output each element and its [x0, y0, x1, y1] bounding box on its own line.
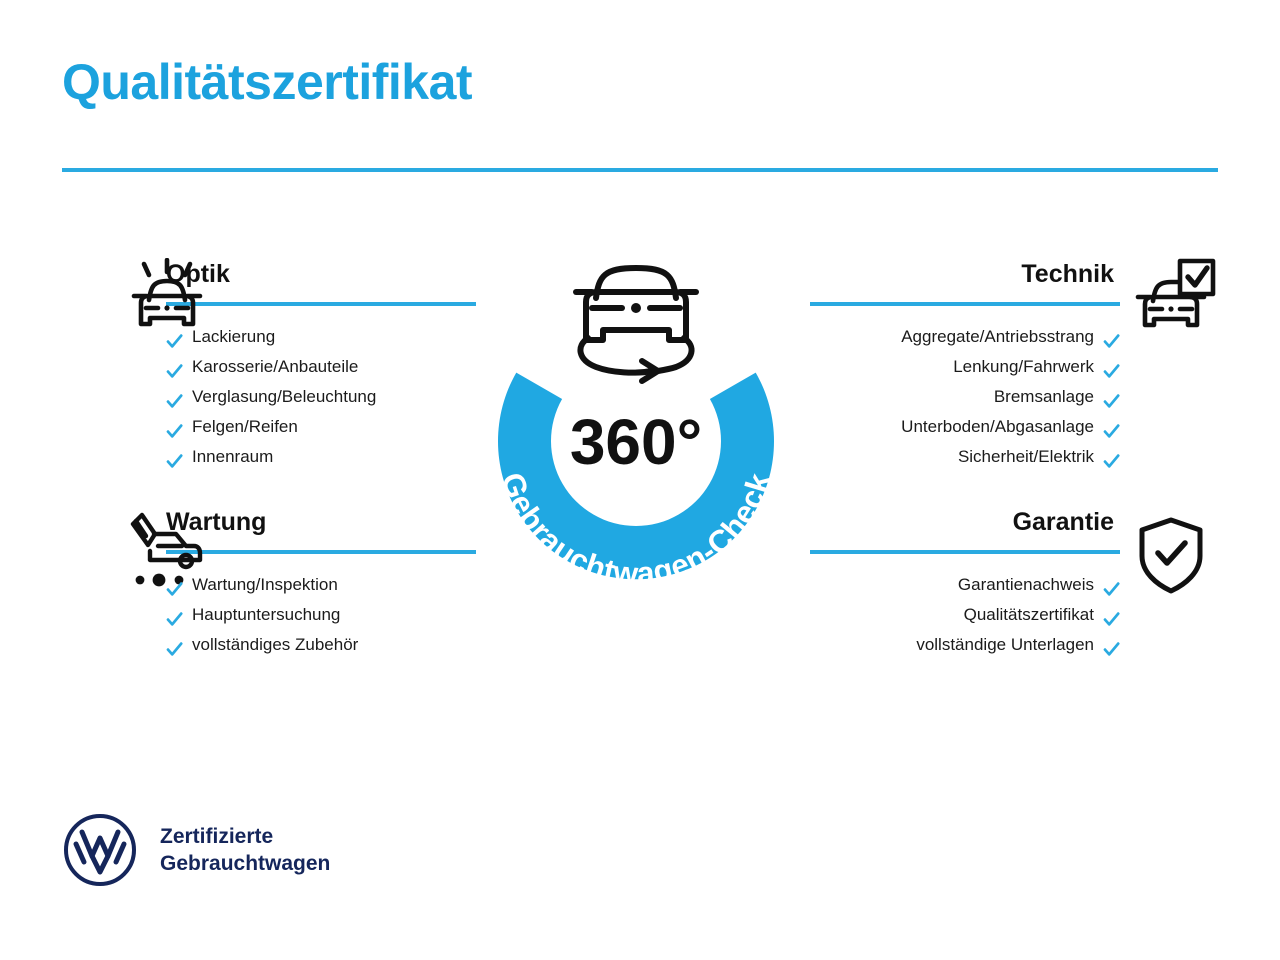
- car-checkbox-icon: [1132, 256, 1218, 342]
- list-item-label: Sicherheit/Elektrik: [958, 442, 1094, 472]
- footer-line-2: Gebrauchtwagen: [160, 850, 330, 877]
- list-item-label: Wartung/Inspektion: [192, 570, 338, 600]
- section-garantie: Garantie Garantienachweis Qualitätszerti…: [800, 510, 1218, 660]
- check-icon: [166, 330, 183, 347]
- section-divider-wartung: [166, 550, 476, 554]
- list-item: Verglasung/Beleuchtung: [62, 382, 476, 412]
- list-item: Hauptuntersuchung: [62, 600, 476, 630]
- check-icon: [166, 638, 183, 655]
- page-title: Qualitätszertifikat: [62, 56, 1218, 109]
- check-icon: [1103, 638, 1120, 655]
- list-item-label: Unterboden/Abgasanlage: [901, 412, 1094, 442]
- footer-line-1: Zertifizierte: [160, 823, 330, 850]
- footer-text: Zertifizierte Gebrauchtwagen: [160, 823, 330, 878]
- section-divider-optik: [166, 302, 476, 306]
- list-item: Bremsanlage: [800, 382, 1218, 412]
- check-icon: [1103, 330, 1120, 347]
- footer-brand: Zertifizierte Gebrauchtwagen: [62, 812, 330, 888]
- list-item-label: Felgen/Reifen: [192, 412, 298, 442]
- section-divider-garantie: [810, 550, 1120, 554]
- list-item: Qualitätszertifikat: [800, 600, 1218, 630]
- car-rotate-360-icon: [576, 268, 696, 381]
- list-item-label: Garantienachweis: [958, 570, 1094, 600]
- header-divider: [62, 168, 1218, 172]
- list-item-label: vollständiges Zubehör: [192, 630, 358, 660]
- check-icon: [1103, 360, 1120, 377]
- checklist-optik: Lackierung Karosserie/Anbauteile Verglas…: [62, 322, 476, 472]
- badge-center-label: 360°: [570, 406, 702, 478]
- list-item: vollständige Unterlagen: [800, 630, 1218, 660]
- check-icon: [166, 360, 183, 377]
- check-icon: [1103, 578, 1120, 595]
- list-item-label: vollständige Unterlagen: [916, 630, 1094, 660]
- check-icon: [1103, 420, 1120, 437]
- page-header: Qualitätszertifikat: [62, 56, 1218, 109]
- list-item: Sicherheit/Elektrik: [800, 442, 1218, 472]
- check-icon: [1103, 608, 1120, 625]
- section-technik: Technik Aggregate/Antriebsstrang Lenkung…: [800, 262, 1218, 472]
- vw-logo: [62, 812, 138, 888]
- quality-certificate-page: { "header": { "title": "Qualitätszertifi…: [0, 0, 1280, 960]
- list-item-label: Innenraum: [192, 442, 273, 472]
- check-icon: [1103, 390, 1120, 407]
- section-optik: Optik Lackierung Karosserie/Anbauteile V…: [62, 262, 476, 472]
- list-item-label: Aggregate/Antriebsstrang: [901, 322, 1094, 352]
- check-icon: [166, 450, 183, 467]
- list-item: Innenraum: [62, 442, 476, 472]
- list-item: Felgen/Reifen: [62, 412, 476, 442]
- list-item-label: Hauptuntersuchung: [192, 600, 340, 630]
- check-icon: [166, 390, 183, 407]
- check-icon: [166, 420, 183, 437]
- list-item-label: Karosserie/Anbauteile: [192, 352, 358, 382]
- list-item: Karosserie/Anbauteile: [62, 352, 476, 382]
- check-icon: [1103, 450, 1120, 467]
- list-item-label: Verglasung/Beleuchtung: [192, 382, 376, 412]
- list-item: Unterboden/Abgasanlage: [800, 412, 1218, 442]
- checklist-technik: Aggregate/Antriebsstrang Lenkung/Fahrwer…: [800, 322, 1218, 472]
- badge-360-gebrauchtwagen-check: Gebrauchtwagen-Check 360°: [468, 246, 804, 636]
- section-wartung: Wartung Wartung/Inspektion Hauptuntersuc…: [62, 510, 476, 660]
- check-icon: [166, 608, 183, 625]
- list-item-label: Lenkung/Fahrwerk: [953, 352, 1094, 382]
- list-item: vollständiges Zubehör: [62, 630, 476, 660]
- check-icon: [166, 578, 183, 595]
- shield-check-icon: [1128, 512, 1214, 598]
- list-item: Lenkung/Fahrwerk: [800, 352, 1218, 382]
- section-divider-technik: [810, 302, 1120, 306]
- list-item-label: Qualitätszertifikat: [964, 600, 1094, 630]
- list-item-label: Bremsanlage: [994, 382, 1094, 412]
